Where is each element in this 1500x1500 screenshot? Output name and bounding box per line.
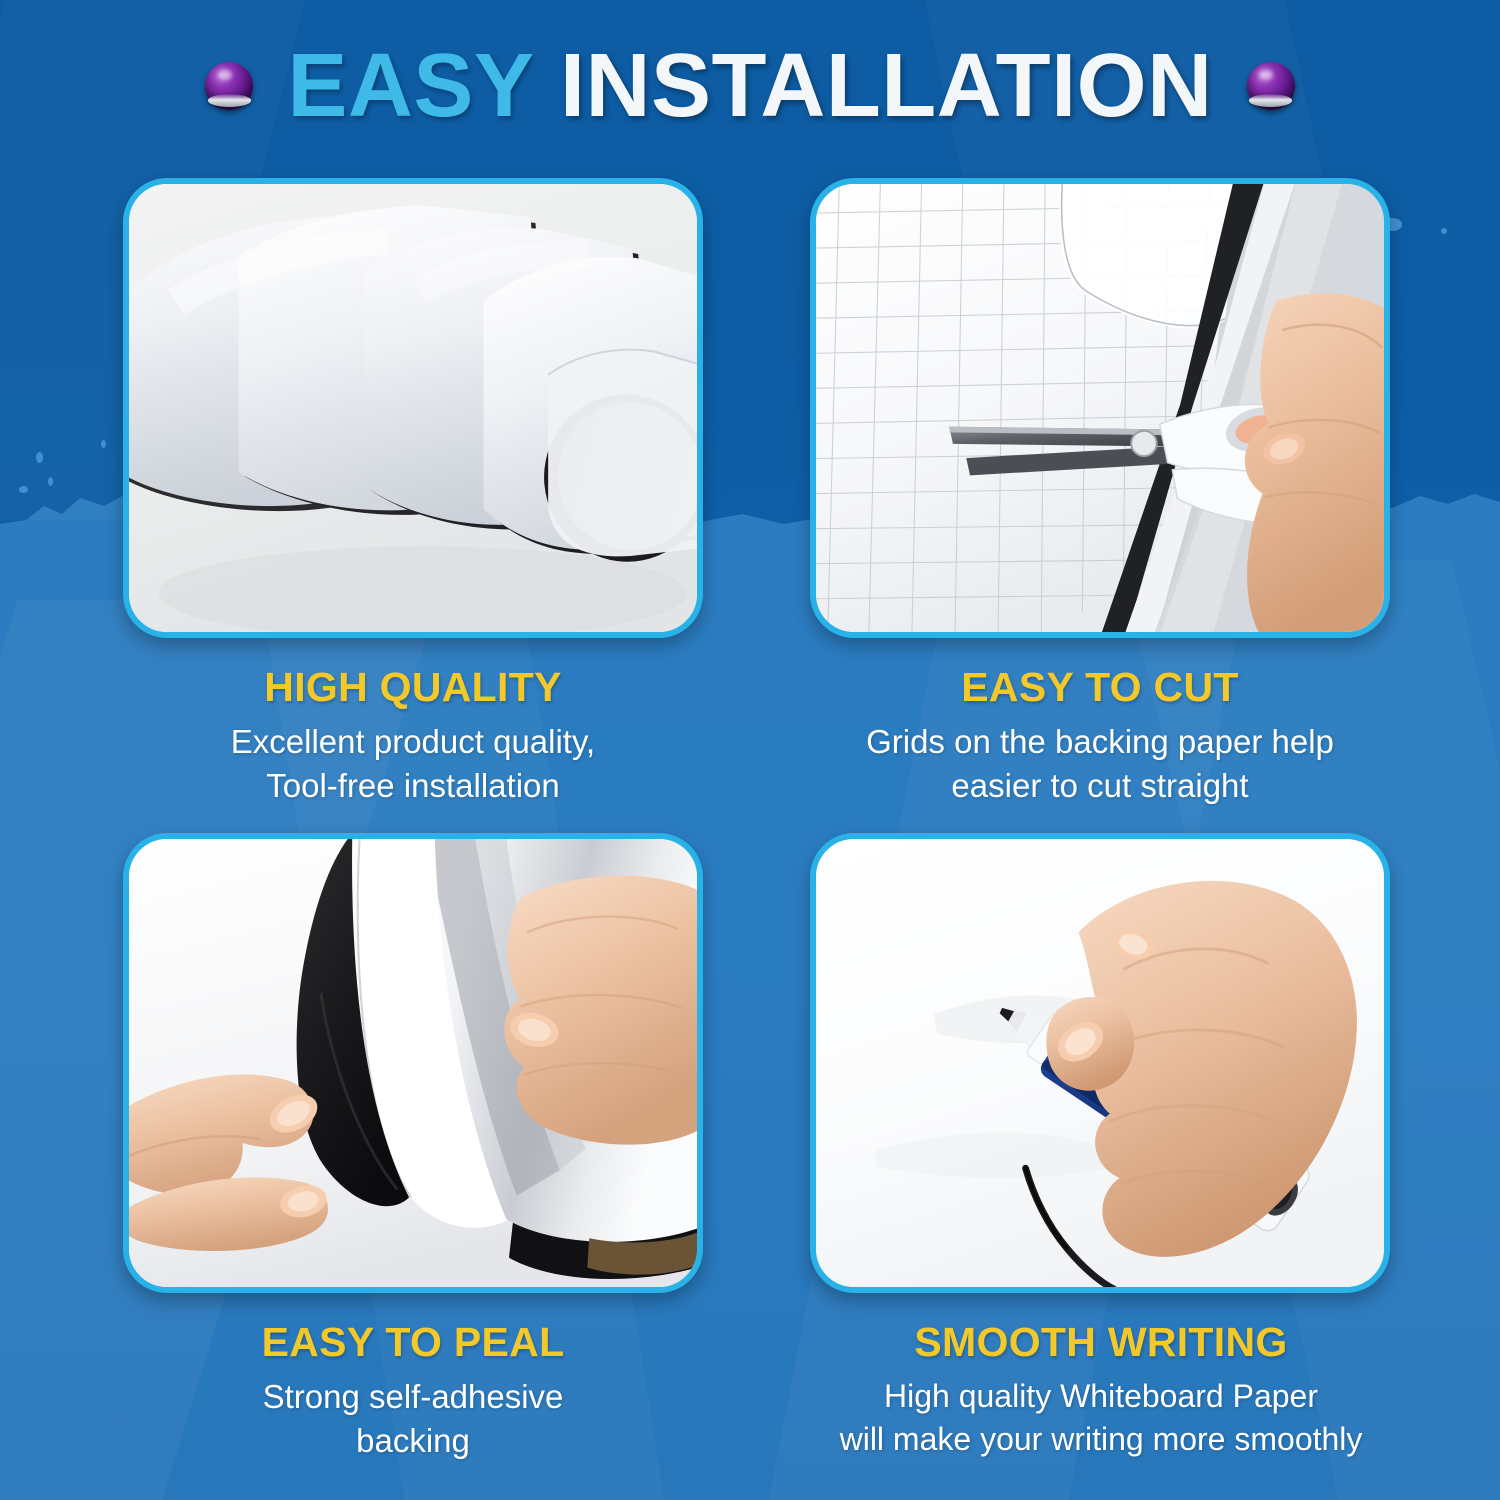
page-title-installation: INSTALLATION	[560, 36, 1213, 136]
feature-description-line1: Excellent product quality,	[123, 720, 703, 764]
feature-photo-high-quality[interactable]	[123, 178, 703, 638]
feature-card-easy-to-cut: EASY TO CUT Grids on the backing paper h…	[750, 178, 1500, 833]
feature-card-smooth-writing: JIAWEI bg JW-528 No.1	[750, 833, 1500, 1488]
feature-heading: SMOOTH WRITING	[786, 1319, 1416, 1366]
page-title: EASY INSTALLATION	[287, 41, 1212, 131]
feature-description-line2: Tool-free installation	[123, 764, 703, 808]
feature-grid: HIGH QUALITY Excellent product quality, …	[0, 178, 1500, 1488]
feature-description-line2: will make your writing more smoothly	[786, 1418, 1416, 1461]
feature-card-high-quality: HIGH QUALITY Excellent product quality, …	[0, 178, 750, 833]
feature-description-line1: Grids on the backing paper help	[810, 720, 1390, 764]
page-title-easy: EASY	[287, 36, 534, 136]
pushpin-icon-right	[1247, 62, 1295, 110]
feature-description-line2: easier to cut straight	[810, 764, 1390, 808]
feature-description-line1: Strong self-adhesive	[123, 1375, 703, 1419]
feature-photo-easy-to-cut[interactable]	[810, 178, 1390, 638]
feature-caption-high-quality: HIGH QUALITY Excellent product quality, …	[123, 638, 703, 808]
feature-photo-smooth-writing[interactable]: JIAWEI bg JW-528 No.1	[810, 833, 1390, 1293]
feature-heading: HIGH QUALITY	[123, 664, 703, 711]
feature-heading: EASY TO PEAL	[123, 1319, 703, 1366]
feature-caption-easy-to-peal: EASY TO PEAL Strong self-adhesive backin…	[123, 1293, 703, 1463]
feature-caption-easy-to-cut: EASY TO CUT Grids on the backing paper h…	[810, 638, 1390, 808]
pushpin-icon-left	[205, 62, 253, 110]
feature-caption-smooth-writing: SMOOTH WRITING High quality Whiteboard P…	[786, 1293, 1416, 1460]
feature-card-easy-to-peal: EASY TO PEAL Strong self-adhesive backin…	[0, 833, 750, 1488]
feature-description-line1: High quality Whiteboard Paper	[786, 1375, 1416, 1418]
page-header: EASY INSTALLATION	[0, 26, 1500, 146]
feature-photo-easy-to-peal[interactable]	[123, 833, 703, 1293]
feature-description-line2: backing	[123, 1419, 703, 1463]
feature-heading: EASY TO CUT	[810, 664, 1390, 711]
